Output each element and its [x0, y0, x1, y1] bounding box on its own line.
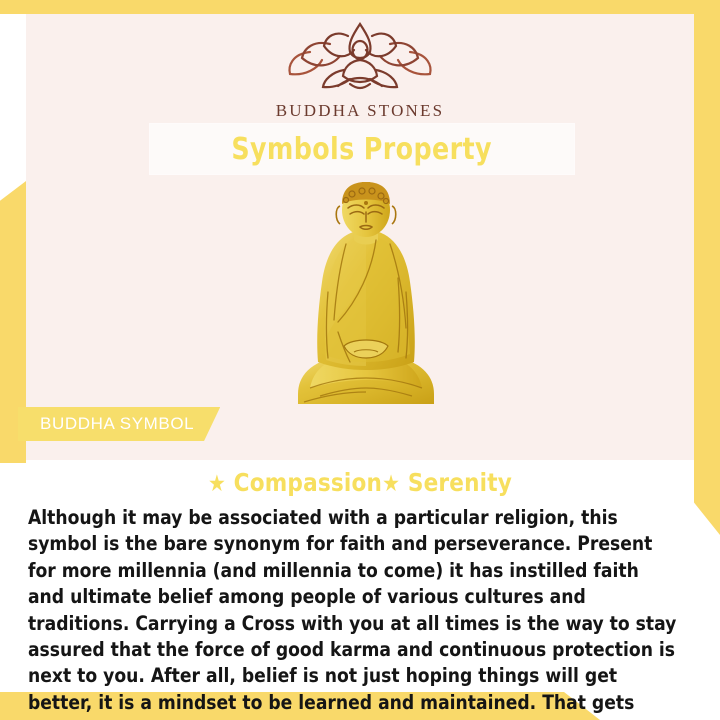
star-icon-right: ★	[382, 471, 400, 497]
status-badge: BUDDHA SYMBOL	[18, 407, 220, 441]
brand-block: BUDDHA STONES	[0, 18, 720, 121]
golden-seated-buddha-statue	[280, 182, 452, 408]
body-paragraph: Although it may be associated with a par…	[26, 497, 684, 720]
brand-name: BUDDHA STONES	[0, 101, 720, 121]
page-title: Symbols Property	[232, 132, 493, 167]
subtitle-part-one: Compassion	[234, 468, 382, 497]
star-icon-left: ★	[208, 471, 226, 497]
subtitle-part-two: Serenity	[408, 468, 512, 497]
poster-root: BUDDHA STONES Symbols Property	[0, 0, 720, 720]
title-banner: Symbols Property	[150, 124, 574, 174]
lotus-meditation-icon	[0, 18, 720, 97]
section-subtitle: ★ Compassion★ Serenity	[39, 460, 680, 497]
description-section: ★ Compassion★ Serenity Although it may b…	[26, 460, 694, 692]
frame-top-bar	[0, 0, 720, 14]
badge-label: BUDDHA SYMBOL	[40, 414, 194, 434]
